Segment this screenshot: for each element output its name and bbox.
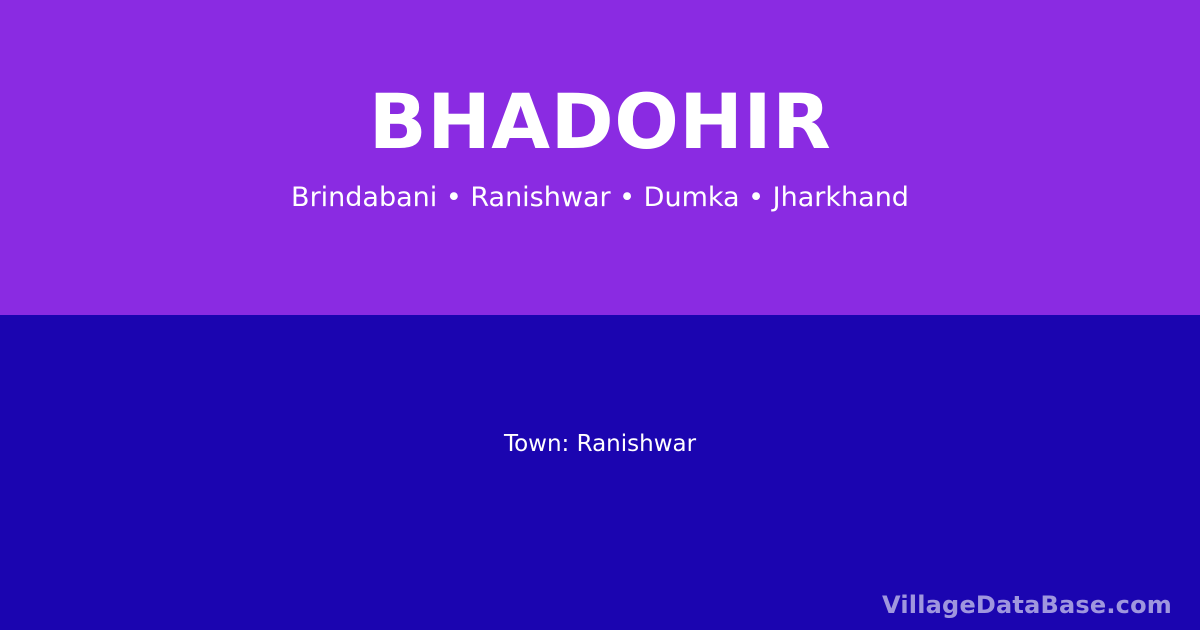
breadcrumb: Brindabani • Ranishwar • Dumka • Jharkha…: [291, 182, 909, 214]
page-title: BHADOHIR: [369, 84, 831, 160]
detail-body: Town: Ranishwar: [0, 315, 1200, 575]
detail-panel: Town: Ranishwar VillageDataBase.com: [0, 315, 1200, 630]
hero-banner: BHADOHIR Brindabani • Ranishwar • Dumka …: [0, 0, 1200, 315]
footer: VillageDataBase.com: [882, 591, 1172, 620]
site-watermark: VillageDataBase.com: [882, 591, 1172, 620]
town-field: Town: Ranishwar: [504, 430, 696, 460]
village-info-card: BHADOHIR Brindabani • Ranishwar • Dumka …: [0, 0, 1200, 630]
